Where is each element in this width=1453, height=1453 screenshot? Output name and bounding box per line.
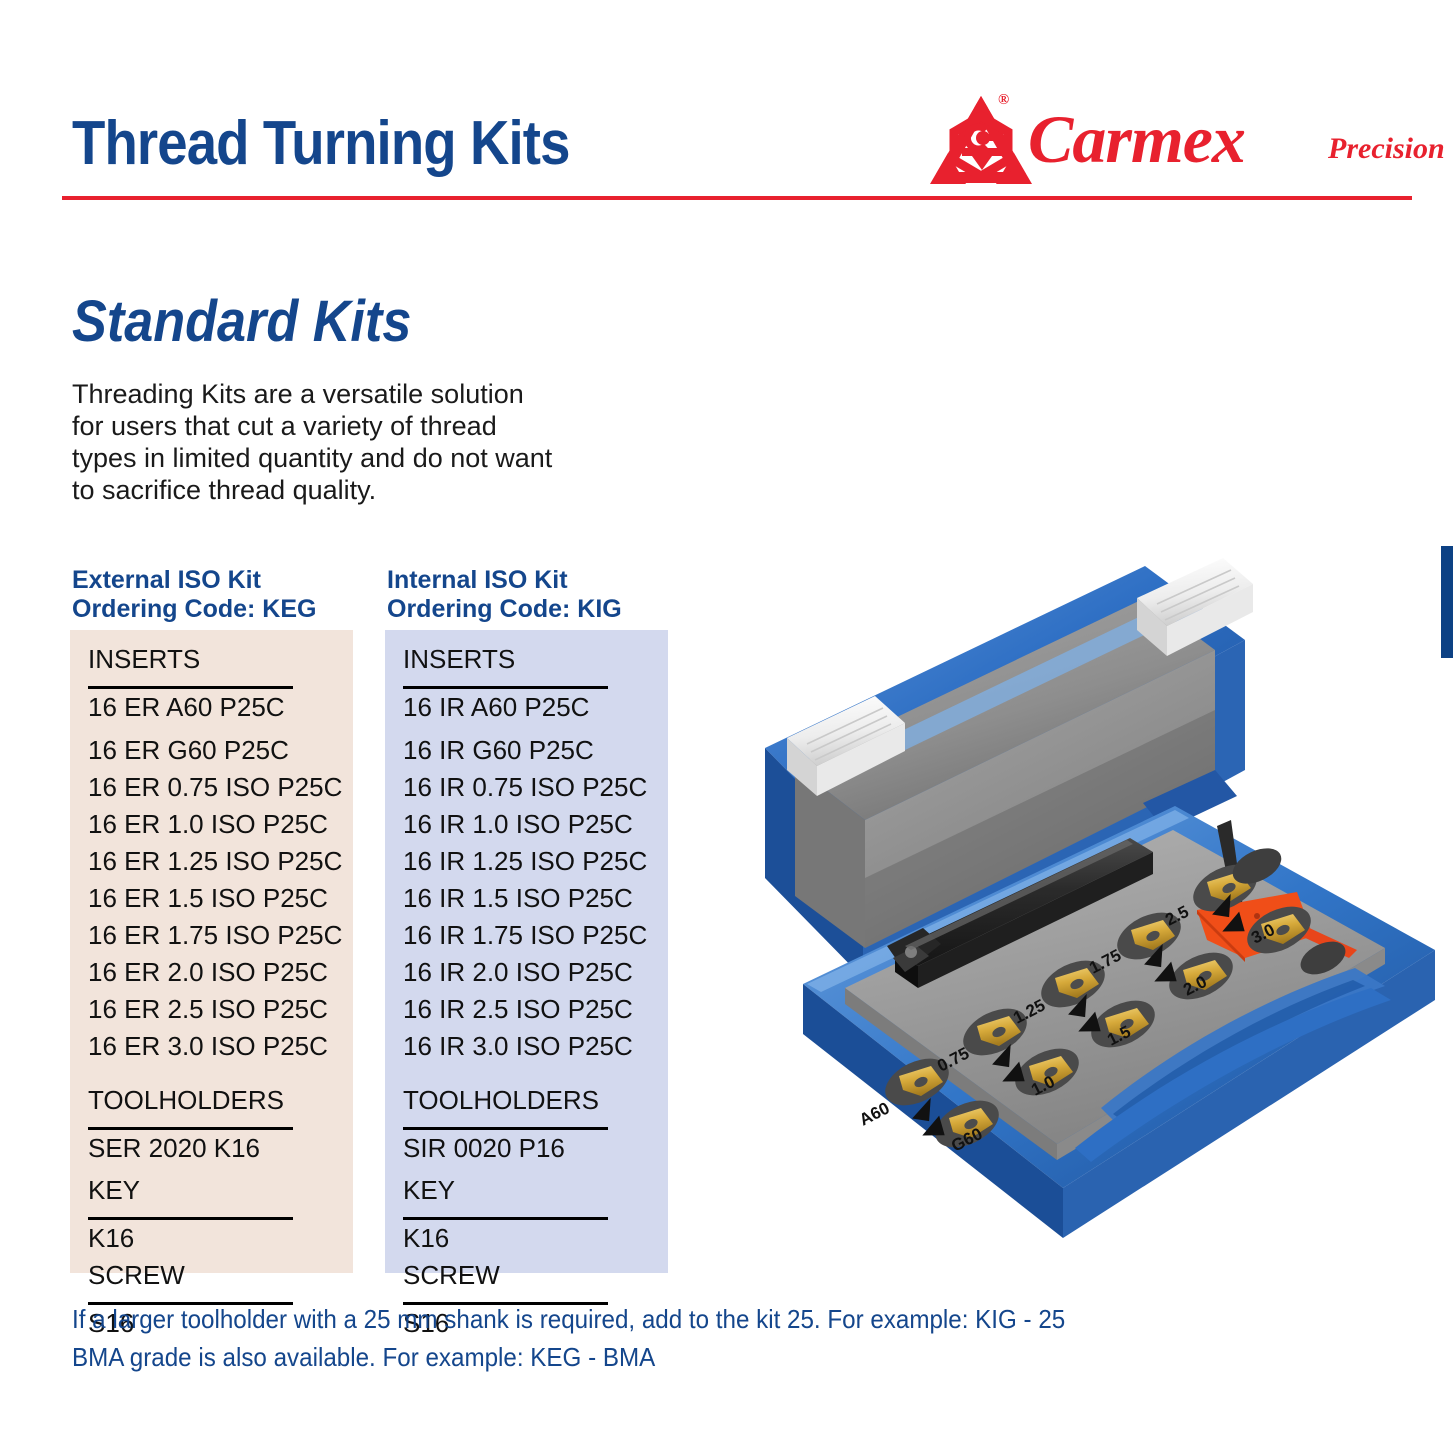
kit-insert-row: 16 ER 2.0 ISO P25C <box>88 957 328 988</box>
kit-insert-row: 16 IR A60 P25C <box>403 692 589 723</box>
kit-insert-row: 16 ER 3.0 ISO P25C <box>88 1031 328 1062</box>
kit-toolholder-row: SER 2020 K16 <box>88 1133 260 1164</box>
kit-heading-line2: Ordering Code: KIG <box>387 595 622 624</box>
brand-logo: ® Carmex Precision Tools Ltd. <box>928 92 1428 184</box>
kit-key-row: K16 <box>403 1223 449 1254</box>
title-divider <box>62 196 1412 200</box>
kit-section-divider <box>88 1217 293 1220</box>
kit-toolholder-row: SIR 0020 P16 <box>403 1133 565 1164</box>
catalog-page: Thread Turning Kits <box>0 0 1453 1453</box>
intro-line: to sacrifice thread quality. <box>72 474 632 506</box>
brand-name: Carmex <box>1028 100 1245 179</box>
kit-insert-row: 16 IR 2.0 ISO P25C <box>403 957 633 988</box>
kit-section-label: TOOLHOLDERS <box>88 1085 284 1116</box>
kit-section-label: INSERTS <box>88 644 200 675</box>
kit-heading-internal: Internal ISO Kit Ordering Code: KIG <box>387 566 622 624</box>
kit-section-divider <box>403 686 608 689</box>
product-photo-kit-case: A60 G60 0.75 1.0 1.25 1.5 1.75 2.0 <box>745 548 1445 1278</box>
intro-line: for users that cut a variety of thread <box>72 410 632 442</box>
kit-key-row: K16 <box>88 1223 134 1254</box>
kit-table-internal: INSERTS 16 IR A60 P25C 16 IR G60 P25C 16… <box>385 630 668 1273</box>
kit-section-label: SCREW <box>88 1260 185 1291</box>
kit-insert-row: 16 IR 1.75 ISO P25C <box>403 920 647 951</box>
kit-heading-line2: Ordering Code: KEG <box>72 595 316 624</box>
page-title: Thread Turning Kits <box>72 108 570 179</box>
kit-section-label: KEY <box>88 1175 140 1206</box>
brand-tagline: Precision Tools Ltd. <box>1328 132 1453 166</box>
kit-insert-row: 16 IR 1.25 ISO P25C <box>403 846 647 877</box>
kit-section-label: INSERTS <box>403 644 515 675</box>
footnote-line: If a larger toolholder with a 25 mm shan… <box>72 1300 1169 1338</box>
kit-insert-row: 16 ER 1.25 ISO P25C <box>88 846 342 877</box>
footnote: If a larger toolholder with a 25 mm shan… <box>72 1300 1169 1376</box>
intro-line: types in limited quantity and do not wan… <box>72 442 632 474</box>
carmex-triangle-logo-icon <box>928 94 1034 186</box>
kit-section-label: TOOLHOLDERS <box>403 1085 599 1116</box>
kit-section-label: KEY <box>403 1175 455 1206</box>
kit-insert-row: 16 IR G60 P25C <box>403 735 594 766</box>
kit-section-label: SCREW <box>403 1260 500 1291</box>
kit-insert-row: 16 IR 0.75 ISO P25C <box>403 772 647 803</box>
kit-heading-line1: Internal ISO Kit <box>387 566 622 595</box>
kit-insert-row: 16 IR 2.5 ISO P25C <box>403 994 633 1025</box>
page-edge-tab <box>1441 546 1453 658</box>
kit-insert-row: 16 ER 1.0 ISO P25C <box>88 809 328 840</box>
kit-table-external: INSERTS 16 ER A60 P25C 16 ER G60 P25C 16… <box>70 630 353 1273</box>
kit-insert-row: 16 IR 1.5 ISO P25C <box>403 883 633 914</box>
kit-section-divider <box>403 1217 608 1220</box>
kit-insert-row: 16 ER 2.5 ISO P25C <box>88 994 328 1025</box>
kit-insert-row: 16 IR 3.0 ISO P25C <box>403 1031 633 1062</box>
section-title: Standard Kits <box>72 288 411 355</box>
intro-line: Threading Kits are a versatile solution <box>72 378 632 410</box>
section-intro: Threading Kits are a versatile solution … <box>72 378 632 506</box>
kit-insert-row: 16 IR 1.0 ISO P25C <box>403 809 633 840</box>
kit-heading-external: External ISO Kit Ordering Code: KEG <box>72 566 316 624</box>
kit-section-divider <box>88 1127 293 1130</box>
kit-section-divider <box>403 1127 608 1130</box>
kit-insert-row: 16 ER G60 P25C <box>88 735 289 766</box>
registered-mark-icon: ® <box>998 92 1009 109</box>
kit-insert-row: 16 ER A60 P25C <box>88 692 285 723</box>
kit-insert-row: 16 ER 1.5 ISO P25C <box>88 883 328 914</box>
kit-insert-row: 16 ER 1.75 ISO P25C <box>88 920 342 951</box>
insert-label-a60: A60 <box>856 1098 892 1129</box>
kit-section-divider <box>88 686 293 689</box>
kit-insert-row: 16 ER 0.75 ISO P25C <box>88 772 342 803</box>
footnote-line: BMA grade is also available. For example… <box>72 1338 1169 1376</box>
kit-heading-line1: External ISO Kit <box>72 566 316 595</box>
